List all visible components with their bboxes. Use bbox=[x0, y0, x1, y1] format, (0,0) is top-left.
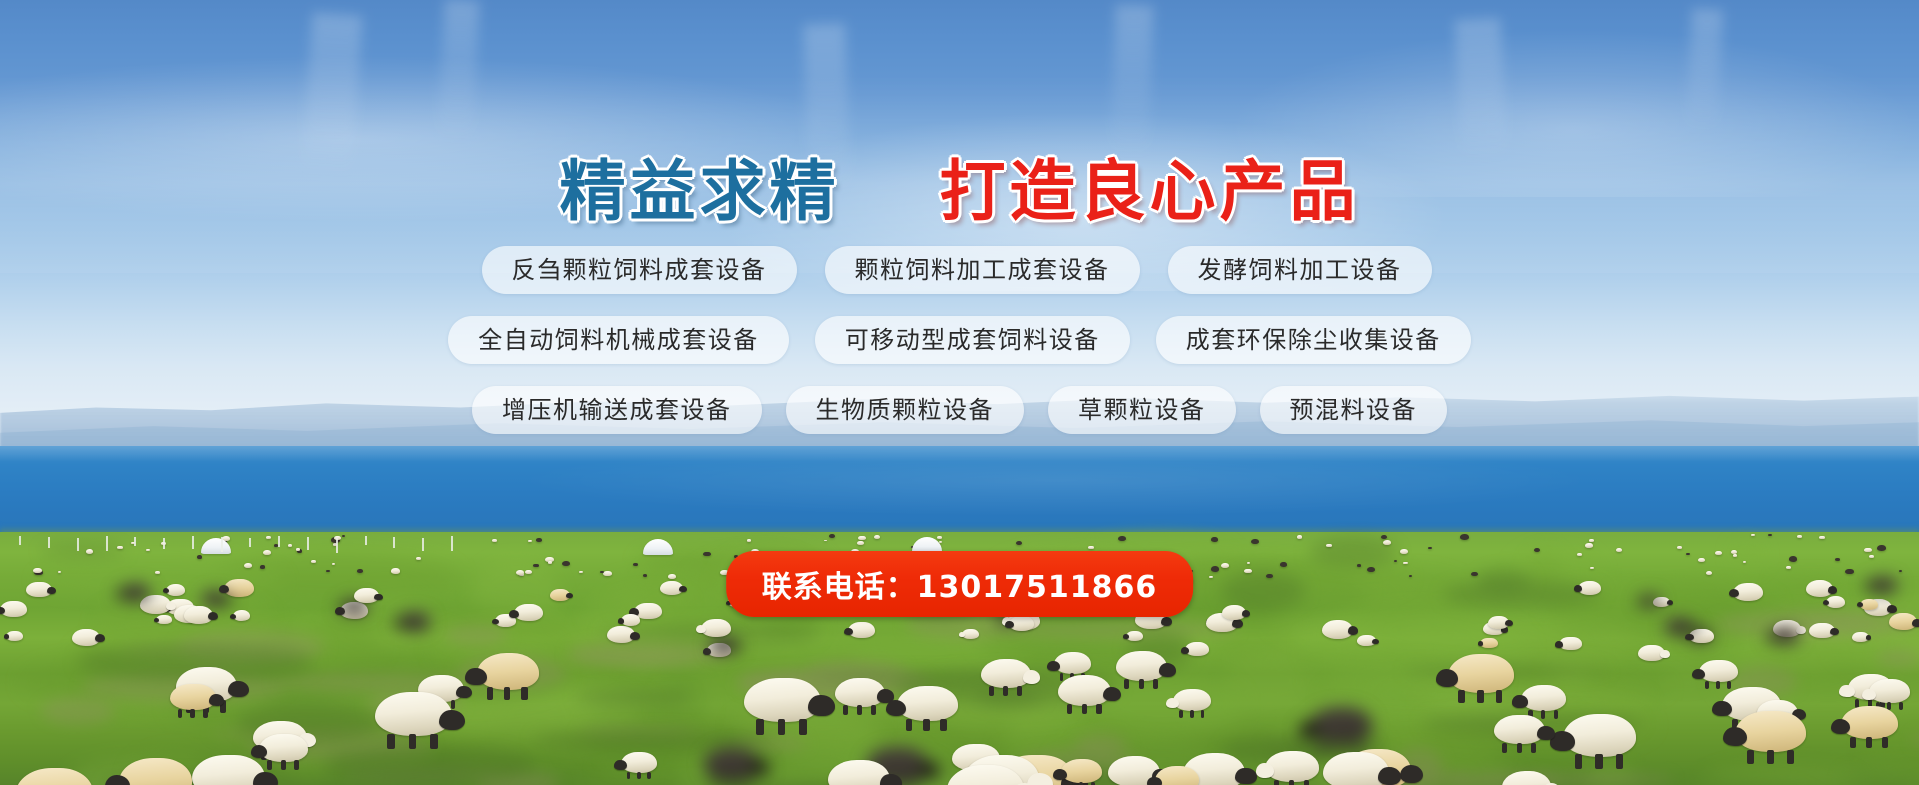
product-tag[interactable]: 全自动饲料机械成套设备 bbox=[448, 316, 789, 364]
sheep-head bbox=[1723, 727, 1747, 746]
sheep bbox=[202, 591, 228, 606]
shadow-patch bbox=[323, 746, 534, 783]
sheep-head bbox=[439, 710, 465, 730]
sheep-body bbox=[1616, 548, 1622, 552]
sheep bbox=[1357, 564, 1361, 566]
sheep-body bbox=[1589, 539, 1594, 542]
sheep bbox=[244, 563, 252, 568]
sheep-body bbox=[117, 546, 123, 550]
sheep bbox=[1409, 575, 1412, 577]
sheep bbox=[1733, 583, 1763, 601]
sheep-body bbox=[1864, 548, 1872, 553]
sheep bbox=[1789, 556, 1798, 561]
sheep-body bbox=[1835, 558, 1840, 561]
sheep-head bbox=[886, 700, 907, 716]
sheep-body bbox=[536, 538, 542, 541]
sheep bbox=[1616, 548, 1622, 552]
sheep-body bbox=[416, 557, 421, 560]
sheep bbox=[399, 612, 430, 631]
headline-part-one: 精益求精 bbox=[560, 153, 840, 230]
sheep bbox=[848, 622, 874, 638]
sheep-body bbox=[1381, 535, 1387, 539]
sheep bbox=[1735, 711, 1806, 752]
sheep-body bbox=[1841, 706, 1897, 739]
fence-post bbox=[19, 536, 21, 545]
sheep bbox=[709, 637, 737, 654]
sheep-body bbox=[1251, 539, 1259, 544]
sheep-body bbox=[146, 549, 150, 552]
sheep bbox=[1638, 645, 1665, 661]
sheep-head bbox=[1023, 670, 1040, 683]
fence-post bbox=[422, 538, 424, 551]
sheep-head bbox=[1242, 610, 1250, 617]
sheep-head bbox=[1256, 763, 1274, 777]
sheep-body bbox=[1869, 679, 1910, 703]
sheep-body bbox=[1502, 771, 1551, 785]
sheep-head bbox=[808, 695, 834, 716]
sheep bbox=[1578, 581, 1601, 595]
sheep bbox=[643, 574, 648, 577]
sheep bbox=[1383, 540, 1391, 545]
sheep bbox=[1899, 570, 1903, 572]
sheep-leg bbox=[190, 709, 195, 718]
sheep-head bbox=[465, 668, 486, 685]
sheep-head bbox=[614, 760, 626, 770]
sheep bbox=[1367, 567, 1375, 572]
product-tag-list: 反刍颗粒饲料成套设备颗粒饲料加工成套设备发酵饲料加工设备全自动饲料机械成套设备可… bbox=[0, 246, 1919, 456]
sheep-body bbox=[1221, 563, 1229, 568]
sheep-body bbox=[263, 550, 271, 555]
sheep-body bbox=[155, 571, 160, 574]
sheep bbox=[550, 589, 569, 601]
sheep bbox=[72, 629, 101, 646]
sheep-body bbox=[579, 571, 582, 573]
sheep bbox=[747, 539, 751, 541]
lake bbox=[0, 446, 1919, 532]
sheep bbox=[375, 692, 451, 736]
sheep-head bbox=[1047, 661, 1060, 671]
sheep bbox=[1054, 652, 1092, 674]
sheep-leg bbox=[647, 772, 651, 779]
sheep bbox=[1534, 548, 1540, 552]
sheep-leg bbox=[1289, 780, 1294, 785]
sheep-body bbox=[937, 536, 942, 539]
sheep bbox=[1310, 707, 1372, 743]
sheep-leg bbox=[778, 719, 786, 734]
sheep bbox=[937, 536, 942, 539]
sheep bbox=[1244, 569, 1251, 574]
sheep bbox=[266, 536, 270, 539]
sheep-leg bbox=[487, 687, 493, 699]
sheep bbox=[1706, 571, 1713, 575]
sheep-head bbox=[228, 681, 249, 697]
sheep bbox=[263, 550, 271, 555]
sheep bbox=[1488, 616, 1510, 629]
sheep-leg bbox=[923, 719, 929, 731]
sheep-leg bbox=[1767, 750, 1774, 764]
sheep bbox=[1400, 549, 1408, 554]
sheep bbox=[1322, 620, 1353, 639]
sheep-body bbox=[1699, 660, 1738, 683]
sheep-leg bbox=[1017, 686, 1022, 696]
sheep-head bbox=[1862, 689, 1876, 700]
sheep bbox=[1786, 566, 1791, 569]
sheep bbox=[1265, 751, 1319, 782]
sheep-head bbox=[1685, 634, 1693, 641]
sheep-leg bbox=[409, 734, 417, 749]
sheep-head bbox=[959, 632, 965, 637]
sheep bbox=[600, 571, 604, 573]
sheep bbox=[58, 571, 61, 573]
sheep-body bbox=[1877, 545, 1886, 551]
sheep-leg bbox=[1705, 681, 1709, 689]
sheep bbox=[1280, 562, 1287, 566]
sheep-head bbox=[1729, 589, 1739, 597]
sheep-head bbox=[1166, 698, 1179, 708]
shadow-patch bbox=[577, 689, 692, 706]
sheep bbox=[1502, 771, 1551, 785]
product-tag[interactable]: 草颗粒设备 bbox=[1048, 386, 1236, 434]
sheep bbox=[1699, 660, 1738, 683]
sheep-body bbox=[1061, 759, 1103, 783]
sheep bbox=[981, 659, 1031, 688]
sheep-leg bbox=[430, 734, 438, 749]
product-tag-row: 增压机输送成套设备生物质颗粒设备草颗粒设备预混料设备 bbox=[0, 386, 1919, 434]
sheep bbox=[701, 619, 731, 637]
sheep bbox=[117, 546, 123, 550]
sheep-body bbox=[1173, 689, 1212, 711]
sheep bbox=[1009, 616, 1034, 631]
fence-post bbox=[134, 537, 136, 546]
sheep bbox=[1428, 547, 1432, 550]
sheep-body bbox=[1211, 566, 1220, 572]
sheep-head bbox=[1478, 641, 1484, 646]
sheep bbox=[1381, 535, 1387, 539]
sheep-body bbox=[1899, 570, 1903, 572]
fence-post bbox=[249, 538, 251, 547]
grass-patch bbox=[661, 676, 706, 736]
sheep-body bbox=[703, 552, 711, 557]
sheep bbox=[1448, 654, 1515, 693]
sheep-head bbox=[1505, 620, 1512, 626]
sheep-body bbox=[516, 570, 524, 575]
sheep bbox=[1889, 613, 1917, 630]
sheep-body bbox=[1428, 547, 1432, 550]
sheep-body bbox=[643, 574, 648, 577]
sheep-leg bbox=[267, 760, 272, 770]
sheep-head bbox=[1181, 647, 1189, 654]
sheep bbox=[579, 571, 582, 573]
sheep bbox=[1247, 562, 1250, 564]
sheep bbox=[16, 768, 94, 785]
sheep-body bbox=[528, 540, 532, 542]
sheep-body bbox=[1247, 562, 1250, 564]
sheep bbox=[296, 548, 300, 550]
sheep-body bbox=[1563, 714, 1636, 756]
sheep bbox=[1173, 689, 1212, 711]
sheep-leg bbox=[756, 719, 764, 734]
product-tag[interactable]: 成套环保除尘收集设备 bbox=[1156, 316, 1471, 364]
fence-post bbox=[77, 538, 79, 551]
sheep-body bbox=[1768, 534, 1772, 536]
shadow-patch bbox=[976, 688, 1042, 706]
sheep bbox=[1751, 534, 1755, 536]
sheep-leg bbox=[178, 709, 183, 718]
product-tag-row: 反刍颗粒饲料成套设备颗粒饲料加工成套设备发酵饲料加工设备 bbox=[0, 246, 1919, 294]
sheep-head bbox=[1555, 641, 1563, 647]
sheep bbox=[528, 540, 532, 542]
sheep bbox=[1590, 567, 1594, 569]
sheep-body bbox=[1797, 535, 1802, 538]
sheep-head bbox=[918, 762, 939, 779]
sheep-head bbox=[1537, 726, 1554, 740]
product-tag[interactable]: 发酵饲料加工设备 bbox=[1168, 246, 1432, 294]
sheep-leg bbox=[627, 772, 631, 779]
sheep bbox=[166, 584, 186, 596]
sheep bbox=[86, 549, 94, 554]
sheep bbox=[6, 631, 23, 641]
sheep-leg bbox=[989, 686, 994, 696]
sheep bbox=[1221, 563, 1229, 568]
sheep bbox=[1471, 572, 1478, 576]
sheep-leg bbox=[906, 719, 912, 731]
sheep-leg bbox=[713, 778, 719, 785]
cloud-streak bbox=[1686, 9, 1723, 133]
sheep-leg bbox=[1139, 679, 1144, 689]
sheep-body bbox=[266, 536, 270, 539]
sheep bbox=[197, 555, 202, 558]
sheep-body bbox=[897, 686, 958, 721]
sheep-body bbox=[332, 563, 335, 565]
sheep bbox=[1826, 596, 1845, 608]
sheep bbox=[1877, 545, 1886, 551]
sheep bbox=[1806, 580, 1833, 596]
sheep-body bbox=[548, 561, 552, 564]
sheep-head bbox=[456, 686, 472, 698]
sheep-body bbox=[16, 768, 94, 785]
sheep-head bbox=[880, 774, 901, 785]
sheep-body bbox=[858, 536, 865, 541]
sheep bbox=[525, 570, 532, 574]
sheep bbox=[1768, 534, 1772, 536]
sheep bbox=[1809, 623, 1835, 638]
sheep-head bbox=[844, 628, 853, 635]
sheep-leg bbox=[1153, 679, 1158, 689]
product-tag[interactable]: 增压机输送成套设备 bbox=[472, 386, 762, 434]
sheep bbox=[1698, 558, 1704, 562]
sheep-body bbox=[525, 570, 532, 574]
sheep-body bbox=[1585, 543, 1592, 548]
sheep bbox=[1585, 543, 1592, 548]
sheep-body bbox=[342, 535, 345, 537]
sheep bbox=[121, 584, 150, 601]
product-tag[interactable]: 生物质颗粒设备 bbox=[786, 386, 1025, 434]
sheep-head bbox=[1712, 701, 1732, 717]
sheep-leg bbox=[1003, 686, 1008, 696]
sheep-body bbox=[1743, 561, 1746, 563]
sheep-head bbox=[696, 625, 706, 633]
sheep bbox=[492, 539, 497, 542]
sheep bbox=[1126, 631, 1143, 641]
sheep-leg bbox=[504, 687, 510, 699]
sheep bbox=[1211, 537, 1218, 541]
sheep-head bbox=[750, 760, 769, 775]
product-tag[interactable]: 可移动型成套饲料设备 bbox=[815, 316, 1130, 364]
sheep bbox=[1209, 576, 1213, 578]
sheep-body bbox=[477, 653, 539, 689]
sheep bbox=[516, 570, 524, 575]
sheep-body bbox=[1403, 562, 1407, 565]
sheep-head bbox=[374, 594, 382, 601]
sheep-body bbox=[1211, 537, 1218, 541]
sheep-body bbox=[1789, 556, 1798, 561]
sheep-body bbox=[1471, 572, 1478, 576]
sheep-leg bbox=[1201, 710, 1205, 718]
sheep-head bbox=[1912, 619, 1919, 627]
fence-post bbox=[106, 536, 108, 551]
contact-phone-badge[interactable]: 联系电话：13017511866 bbox=[726, 551, 1194, 617]
sheep bbox=[536, 538, 542, 541]
sheep-head bbox=[618, 618, 625, 623]
sheep-body bbox=[533, 564, 539, 568]
sheep bbox=[947, 765, 1024, 785]
sheep-head bbox=[1839, 685, 1854, 697]
sheep-body bbox=[947, 765, 1024, 785]
sheep bbox=[633, 563, 638, 566]
sheep bbox=[1819, 536, 1824, 539]
sheep bbox=[1589, 539, 1594, 542]
sheep-body bbox=[119, 758, 193, 785]
sheep-head bbox=[223, 596, 232, 603]
sheep bbox=[1266, 574, 1273, 579]
sheep-body bbox=[1845, 569, 1854, 574]
sheep-leg bbox=[1304, 780, 1309, 785]
sheep-body bbox=[1735, 711, 1806, 752]
sheep-body bbox=[311, 560, 316, 563]
sheep bbox=[1869, 577, 1897, 594]
sheep-head bbox=[1574, 585, 1582, 591]
sheep bbox=[548, 561, 552, 564]
sheep-head bbox=[47, 587, 56, 594]
sheep-head bbox=[566, 593, 573, 598]
sheep-body bbox=[1786, 566, 1791, 569]
sheep bbox=[1061, 759, 1103, 783]
sheep bbox=[1797, 535, 1802, 538]
sheep-head bbox=[394, 619, 405, 628]
sheep bbox=[1058, 675, 1111, 706]
sheep-body bbox=[1751, 534, 1755, 536]
sheep-body bbox=[829, 534, 835, 538]
sheep-head bbox=[1372, 639, 1378, 644]
sheep-leg bbox=[911, 781, 917, 785]
sheep-head bbox=[1400, 765, 1423, 783]
grass-patch bbox=[1844, 770, 1919, 785]
product-tag[interactable]: 预混料设备 bbox=[1260, 386, 1448, 434]
sheep-head bbox=[230, 614, 236, 619]
sheep-body bbox=[600, 571, 604, 573]
sheep-body bbox=[197, 555, 202, 558]
sheep-leg bbox=[1882, 737, 1888, 748]
sheep-leg bbox=[1899, 702, 1903, 710]
sheep-leg bbox=[1496, 690, 1503, 703]
sheep-head bbox=[1161, 617, 1172, 626]
sheep bbox=[1841, 706, 1897, 739]
sheep-leg bbox=[1124, 679, 1129, 689]
sheep-body bbox=[1383, 540, 1391, 545]
dirt-patch bbox=[1876, 649, 1919, 667]
sheep bbox=[119, 758, 193, 785]
sheep-body bbox=[668, 574, 675, 579]
sheep-leg bbox=[843, 705, 848, 715]
sheep bbox=[1088, 546, 1094, 550]
sheep bbox=[288, 544, 292, 547]
sheep bbox=[1559, 637, 1582, 651]
sheep-head bbox=[1512, 695, 1528, 707]
sheep-head bbox=[1887, 605, 1897, 613]
sheep-body bbox=[1118, 536, 1126, 541]
sheep-body bbox=[633, 563, 638, 566]
sheep-head bbox=[492, 619, 499, 625]
sheep bbox=[668, 574, 675, 579]
sheep bbox=[1185, 642, 1209, 656]
sheep bbox=[33, 568, 42, 573]
sheep-body bbox=[1265, 751, 1319, 782]
sheep-leg bbox=[294, 760, 299, 770]
product-tag[interactable]: 颗粒饲料加工成套设备 bbox=[825, 246, 1140, 294]
sheep-head bbox=[1053, 769, 1067, 780]
sheep-head bbox=[1866, 635, 1872, 640]
sheep-head bbox=[1103, 687, 1121, 701]
sheep-head bbox=[1688, 624, 1697, 632]
sheep bbox=[533, 564, 539, 568]
sheep-leg bbox=[1616, 754, 1623, 768]
sheep-body bbox=[1326, 544, 1332, 548]
fence-post bbox=[163, 538, 165, 549]
shadow-patch bbox=[1476, 569, 1531, 594]
sheep bbox=[1403, 562, 1407, 565]
sheep-leg bbox=[203, 709, 208, 718]
sheep-body bbox=[1209, 576, 1213, 578]
sheep-body bbox=[1577, 553, 1582, 556]
sheep bbox=[1326, 544, 1332, 548]
dirt-patch bbox=[445, 625, 508, 646]
sheep-body bbox=[1715, 551, 1722, 555]
sheep-leg bbox=[1502, 743, 1507, 753]
sheep bbox=[1118, 536, 1126, 541]
sheep bbox=[835, 678, 885, 707]
sheep bbox=[857, 541, 864, 545]
sheep bbox=[607, 626, 635, 643]
fence-post bbox=[307, 537, 309, 550]
product-tag[interactable]: 反刍颗粒饲料成套设备 bbox=[482, 246, 797, 294]
sheep-leg bbox=[1458, 690, 1465, 703]
sheep-body bbox=[1280, 562, 1287, 566]
sheep-head bbox=[154, 618, 159, 622]
sheep-body bbox=[562, 561, 570, 566]
sheep-body bbox=[33, 568, 42, 573]
sheep-leg bbox=[521, 687, 527, 699]
sheep-leg bbox=[637, 772, 641, 779]
sheep-body bbox=[603, 571, 612, 577]
sheep-head bbox=[732, 642, 741, 650]
cloud-streak bbox=[1110, 4, 1154, 156]
sheep bbox=[1640, 595, 1660, 607]
sheep bbox=[311, 560, 316, 563]
fence-post bbox=[336, 538, 338, 553]
sheep-body bbox=[1733, 554, 1737, 557]
sheep-body bbox=[1357, 564, 1361, 566]
sheep bbox=[233, 610, 251, 621]
